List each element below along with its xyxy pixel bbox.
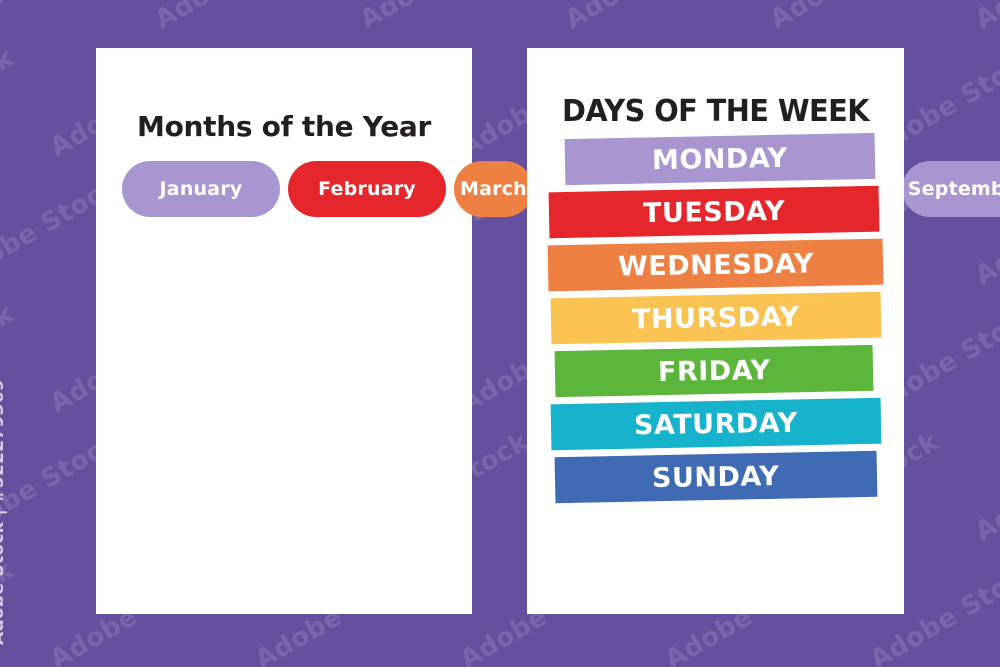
- stock-attribution-watermark: Adobe Stock | #522279369: [0, 379, 8, 645]
- month-pill[interactable]: September: [902, 161, 1000, 217]
- watermark-text: Adobe Stock: [0, 43, 19, 164]
- month-pill[interactable]: March: [454, 161, 533, 217]
- watermark-text: Adobe Stock: [0, 0, 124, 35]
- watermark-text: Adobe Stock: [970, 427, 1000, 548]
- days-bar-list: MONDAYTUESDAYWEDNESDAYTHURSDAYFRIDAYSATU…: [543, 136, 888, 507]
- day-bar[interactable]: MONDAY: [565, 133, 876, 185]
- day-bar[interactable]: THURSDAY: [551, 292, 882, 345]
- days-of-the-week-card: DAYS OF THE WEEK MONDAYTUESDAYWEDNESDAYT…: [527, 48, 904, 614]
- day-bar[interactable]: WEDNESDAY: [548, 239, 884, 292]
- day-bar-label: TUESDAY: [643, 195, 785, 228]
- day-bar[interactable]: SUNDAY: [555, 451, 878, 503]
- watermark-text: Adobe Stock: [970, 0, 1000, 35]
- days-card-title: DAYS OF THE WEEK: [535, 94, 897, 129]
- day-bar-label: MONDAY: [652, 142, 788, 175]
- poster-canvas: Adobe StockAdobe StockAdobe StockAdobe S…: [0, 0, 1000, 667]
- month-pill-label: January: [160, 178, 243, 200]
- day-bar-label: THURSDAY: [632, 301, 800, 335]
- watermark-text: Adobe Stock: [355, 0, 534, 35]
- months-pill-grid: JanuaryFebruaryMarchAprilMayJuneJulyAugu…: [122, 161, 446, 217]
- day-bar-label: FRIDAY: [657, 355, 770, 388]
- day-bar-label: WEDNESDAY: [617, 248, 813, 282]
- watermark-text: Adobe Stock: [765, 0, 944, 35]
- month-pill-label: September: [908, 178, 1000, 200]
- month-pill[interactable]: February: [288, 161, 446, 217]
- day-bar[interactable]: TUESDAY: [549, 186, 880, 239]
- watermark-text: Adobe Stock: [150, 0, 329, 35]
- day-bar-label: SATURDAY: [634, 407, 798, 441]
- month-pill-label: February: [318, 178, 416, 200]
- watermark-text: Adobe Stock: [560, 0, 739, 35]
- day-bar[interactable]: FRIDAY: [555, 345, 874, 397]
- months-of-the-year-card: Months of the Year JanuaryFebruaryMarchA…: [96, 48, 472, 614]
- months-card-title: Months of the Year: [96, 110, 472, 143]
- month-pill-label: March: [460, 178, 527, 200]
- day-bar[interactable]: SATURDAY: [551, 398, 882, 451]
- month-pill[interactable]: January: [122, 161, 280, 217]
- day-bar-label: SUNDAY: [652, 461, 780, 494]
